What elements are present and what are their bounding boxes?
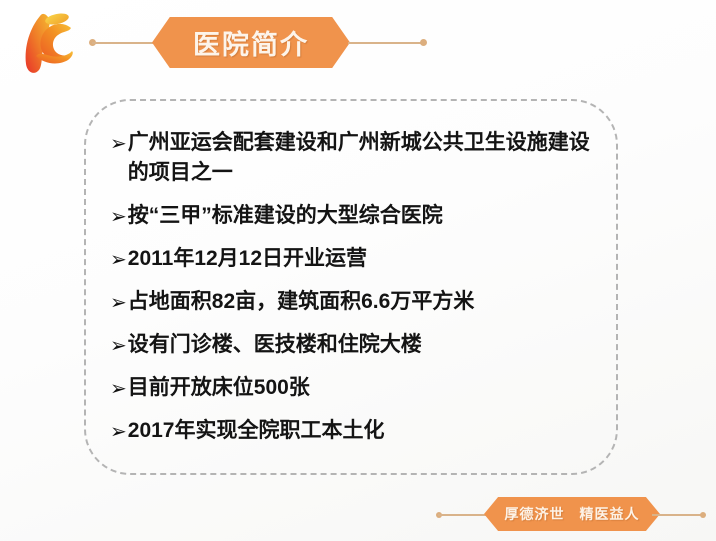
header-connector-dot-right [420, 39, 427, 46]
hospital-swoosh-logo [14, 8, 88, 80]
list-item-label: 目前开放床位500张 [128, 373, 310, 403]
list-item: ➢ 按“三甲”标准建设的大型综合医院 [110, 201, 610, 231]
list-item-label: 设有门诊楼、医技楼和住院大楼 [128, 330, 422, 360]
list-item: ➢ 设有门诊楼、医技楼和住院大楼 [110, 330, 610, 360]
list-item-label: 广州亚运会配套建设和广州新城公共卫生设施建设的项目之一 [128, 128, 610, 188]
list-item-label: 2011年12月12日开业运营 [128, 244, 367, 274]
list-item-label: 按“三甲”标准建设的大型综合医院 [128, 201, 443, 231]
section-title-banner: 医院简介 [152, 17, 350, 68]
arrow-bullet-icon: ➢ [110, 373, 127, 403]
slide-header: 医院简介 [0, 0, 716, 86]
list-item: ➢ 目前开放床位500张 [110, 373, 610, 403]
footer-slogan-banner: 厚德济世 精医益人 [484, 497, 660, 531]
list-item: ➢ 2011年12月12日开业运营 [110, 244, 610, 274]
bullet-list: ➢ 广州亚运会配套建设和广州新城公共卫生设施建设的项目之一 ➢ 按“三甲”标准建… [110, 128, 610, 446]
footer-connector-dot-right [700, 512, 706, 518]
list-item-label: 2017年实现全院职工本土化 [128, 416, 385, 446]
presentation-slide: 医院简介 ➢ 广州亚运会配套建设和广州新城公共卫生设施建设的项目之一 ➢ 按“三… [0, 0, 716, 541]
list-item: ➢ 2017年实现全院职工本土化 [110, 416, 610, 446]
arrow-bullet-icon: ➢ [110, 128, 127, 158]
arrow-bullet-icon: ➢ [110, 287, 127, 317]
arrow-bullet-icon: ➢ [110, 330, 127, 360]
arrow-bullet-icon: ➢ [110, 416, 127, 446]
arrow-bullet-icon: ➢ [110, 201, 127, 231]
slide-footer: 厚德济世 精医益人 [0, 489, 716, 541]
list-item: ➢ 占地面积82亩，建筑面积6.6万平方米 [110, 287, 610, 317]
footer-connector-line-right [652, 514, 704, 516]
list-item: ➢ 广州亚运会配套建设和广州新城公共卫生设施建设的项目之一 [110, 128, 610, 188]
list-item-label: 占地面积82亩，建筑面积6.6万平方米 [128, 287, 475, 317]
footer-slogan: 厚德济世 精医益人 [505, 504, 640, 524]
header-connector-line-right [348, 42, 426, 44]
page-title: 医院简介 [193, 23, 309, 62]
arrow-bullet-icon: ➢ [110, 244, 127, 274]
